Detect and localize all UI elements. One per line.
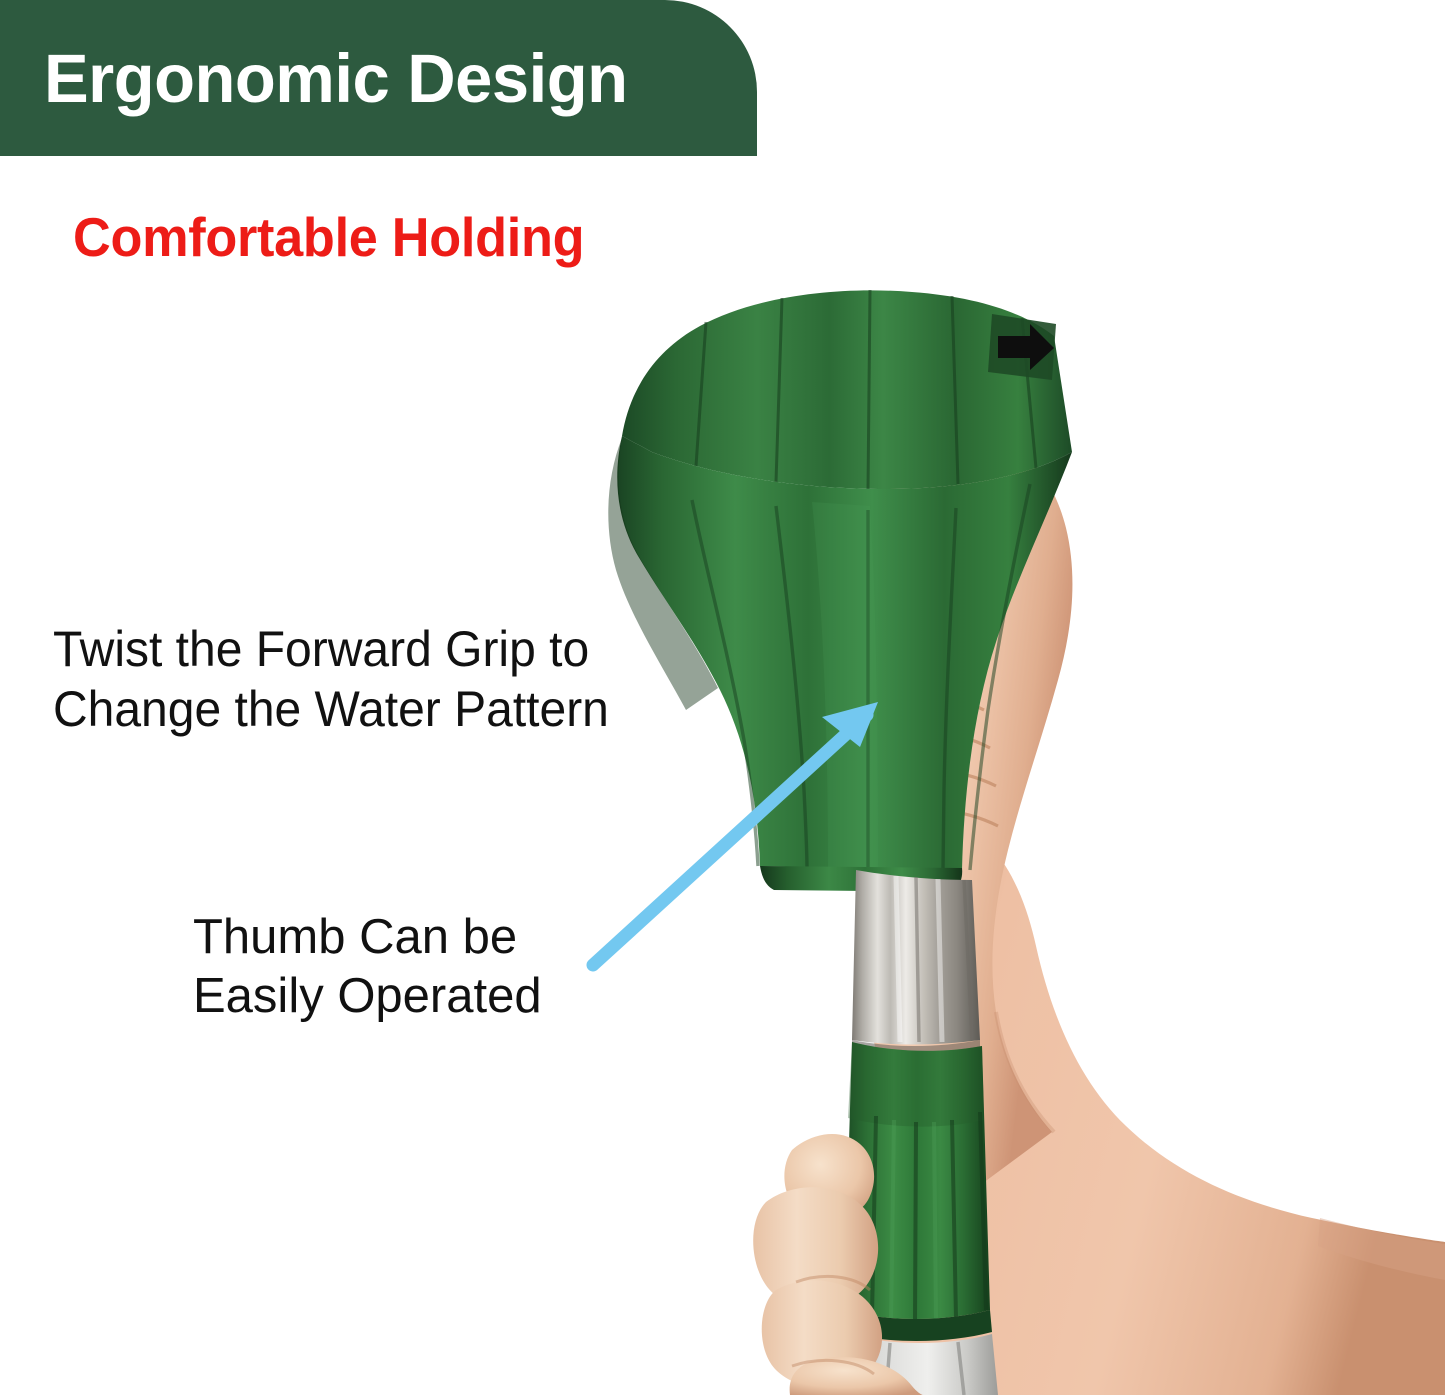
product-illustration: [560, 270, 1445, 1395]
metal-collar: [852, 870, 980, 1058]
subtitle-heading: Comfortable Holding: [73, 205, 584, 269]
infographic-page: Ergonomic Design Comfortable Holding: [0, 0, 1445, 1395]
product-photo: [560, 270, 1445, 1395]
header-banner: Ergonomic Design: [0, 0, 757, 156]
page-title: Ergonomic Design: [44, 39, 628, 118]
rotation-arrow-marker: [988, 314, 1056, 380]
caption-forward-grip: Twist the Forward Grip to Change the Wat…: [53, 619, 609, 739]
lower-grip-taper: [848, 1042, 984, 1127]
caption-thumb: Thumb Can be Easily Operated: [193, 908, 542, 1026]
